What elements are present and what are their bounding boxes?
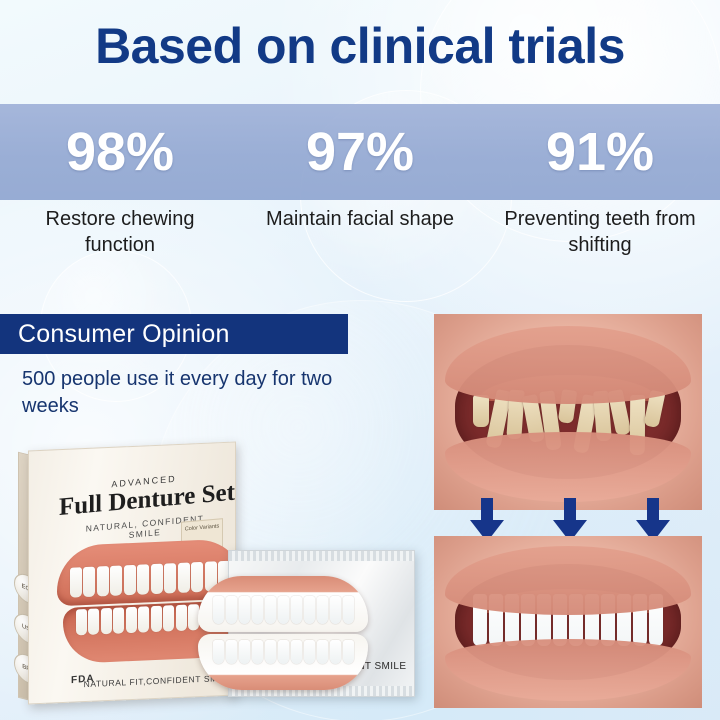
tooth	[101, 608, 112, 634]
tooth	[126, 607, 137, 633]
before-mouth-graphic	[434, 314, 702, 510]
veneer-tooth	[317, 596, 328, 624]
stat-label-2: Maintain facial shape	[240, 206, 480, 258]
veneer-tooth	[291, 596, 302, 624]
tooth	[164, 563, 176, 594]
tooth	[88, 608, 99, 634]
veneer-tooth	[304, 640, 315, 664]
promo-page: Based on clinical trials 98% 97% 91% Res…	[0, 0, 720, 720]
stat-item-1: 98%	[0, 104, 240, 200]
stats-labels-row: Restore chewing function Maintain facial…	[0, 206, 720, 258]
tooth	[178, 562, 190, 593]
tooth	[124, 565, 136, 596]
tooth	[137, 564, 149, 595]
veneer-tooth	[330, 640, 341, 664]
veneer-lower-teeth	[212, 640, 354, 664]
veneer-product-image	[198, 576, 368, 696]
tooth	[151, 564, 163, 595]
after-photo	[434, 536, 702, 708]
veneer-tooth	[239, 596, 250, 624]
tooth	[176, 605, 187, 631]
veneer-upper-arch	[198, 576, 368, 632]
tooth	[473, 395, 488, 426]
veneer-tooth	[330, 596, 341, 624]
tooth	[83, 567, 95, 598]
stat-value: 91%	[546, 104, 654, 200]
tooth	[113, 607, 124, 633]
stats-values-row: 98% 97% 91%	[0, 104, 720, 200]
consumer-opinion-title: Consumer Opinion	[0, 320, 230, 349]
stat-value: 97%	[306, 104, 414, 200]
veneer-tooth	[239, 640, 250, 664]
tooth	[110, 565, 122, 596]
before-photo	[434, 314, 702, 510]
veneer-tooth	[265, 640, 276, 664]
veneer-tooth	[343, 640, 354, 664]
tooth	[70, 567, 82, 598]
veneer-tooth	[213, 596, 224, 624]
veneer-tooth	[213, 640, 224, 664]
veneer-upper-teeth	[212, 596, 354, 624]
veneer-tooth	[226, 596, 237, 624]
veneer-tooth	[278, 596, 289, 624]
veneer-tooth	[252, 596, 263, 624]
veneer-lower-arch	[198, 634, 368, 690]
page-title: Based on clinical trials	[0, 18, 720, 74]
after-mouth-graphic	[434, 536, 702, 708]
veneer-tooth	[317, 640, 328, 664]
tooth	[138, 606, 149, 632]
veneer-tooth	[343, 596, 354, 624]
stat-item-2: 97%	[240, 104, 480, 200]
stat-label-1: Restore chewing function	[0, 206, 240, 258]
veneer-tooth	[278, 640, 289, 664]
stat-item-3: 91%	[480, 104, 720, 200]
consumer-opinion-bar: Consumer Opinion	[0, 314, 348, 354]
veneer-tooth	[265, 596, 276, 624]
veneer-tooth	[226, 640, 237, 664]
veneer-tooth	[252, 640, 263, 664]
veneer-tooth	[291, 640, 302, 664]
tooth	[151, 606, 162, 632]
stat-label-3: Preventing teeth from shifting	[480, 206, 720, 258]
consumer-opinion-description: 500 people use it every day for two week…	[22, 366, 352, 420]
tooth	[97, 566, 109, 597]
stat-value: 98%	[66, 104, 174, 200]
tooth	[163, 605, 174, 631]
veneer-tooth	[304, 596, 315, 624]
tooth	[76, 609, 87, 635]
